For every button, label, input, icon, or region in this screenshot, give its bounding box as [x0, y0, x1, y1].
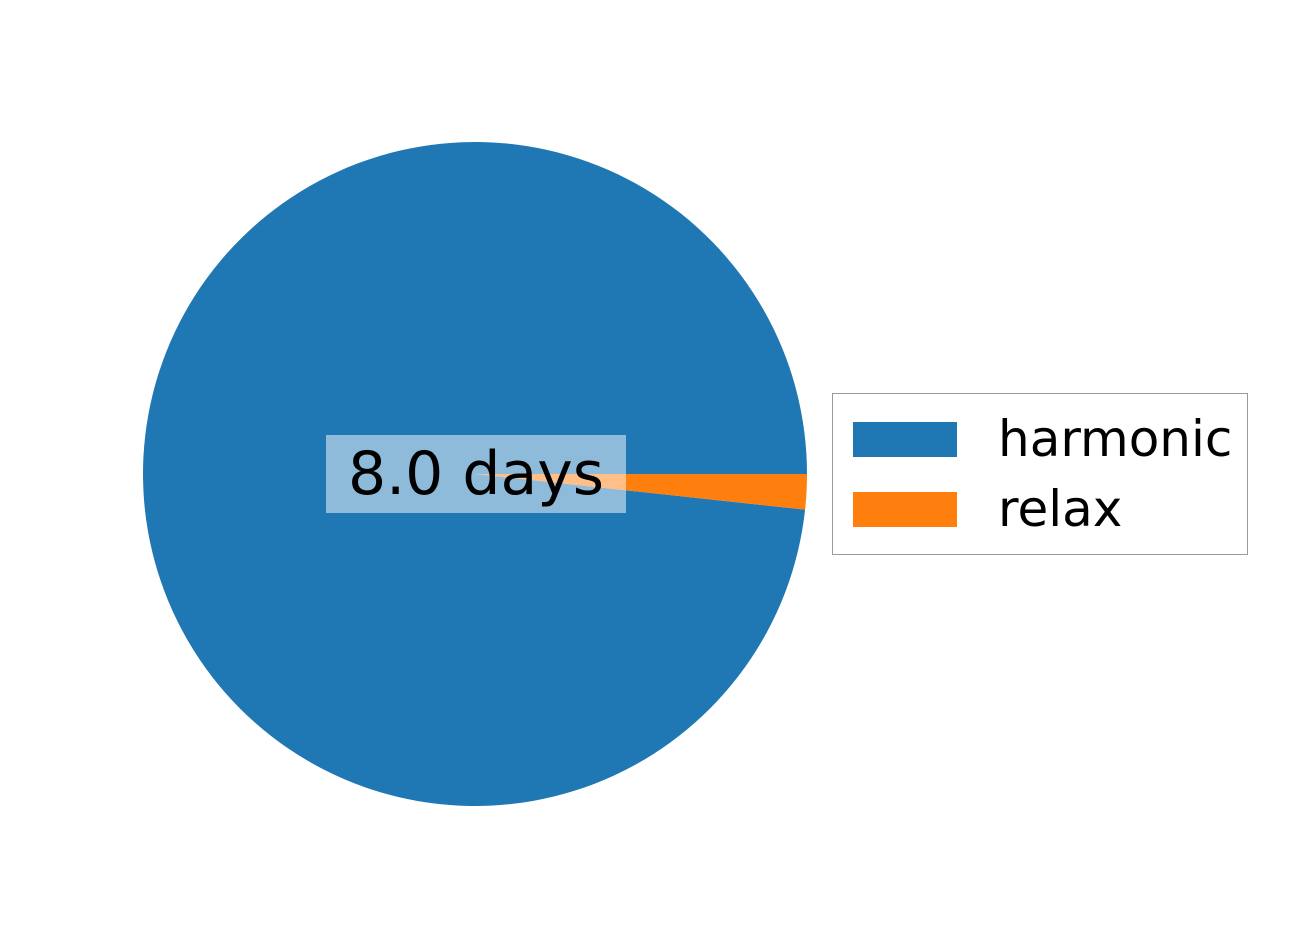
- legend-label-relax: relax: [998, 484, 1122, 534]
- pie-chart-figure: 8.0 days harmonic relax: [0, 0, 1307, 951]
- legend-swatch-harmonic: [853, 422, 957, 457]
- legend-swatch-relax: [853, 492, 957, 527]
- legend-label-harmonic: harmonic: [998, 414, 1232, 464]
- pie-slice-label-harmonic: 8.0 days: [326, 435, 626, 513]
- legend-entry-relax[interactable]: relax: [833, 474, 1247, 544]
- legend-entry-harmonic[interactable]: harmonic: [833, 404, 1247, 474]
- legend: harmonic relax: [832, 393, 1248, 555]
- pie-slice-label-text: 8.0 days: [348, 444, 604, 504]
